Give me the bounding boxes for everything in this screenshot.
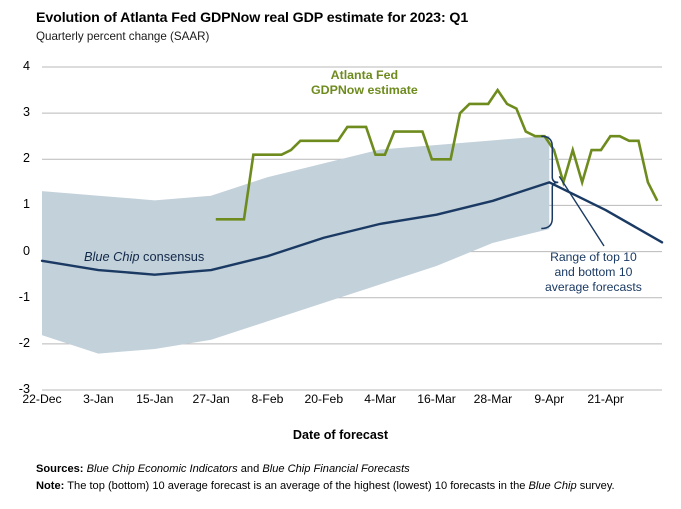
x-axis-title: Date of forecast	[0, 428, 681, 442]
footnote-sources: Sources: Blue Chip Economic Indicators a…	[36, 461, 615, 478]
y-tick-label: 0	[4, 244, 30, 258]
range-annotation-line3: average forecasts	[545, 280, 642, 294]
y-tick-label: 1	[4, 197, 30, 211]
forecast-range-band	[42, 136, 549, 353]
footnote-note-label: Note:	[36, 480, 64, 492]
footnote-sources-label: Sources:	[36, 463, 83, 475]
footnotes: Sources: Blue Chip Economic Indicators a…	[36, 461, 615, 494]
gdpnow-annotation-line1: Atlanta Fed	[331, 68, 398, 82]
range-annotation: Range of top 10 and bottom 10 average fo…	[545, 250, 642, 295]
footnote-note-text-a: The top (bottom) 10 average forecast is …	[67, 480, 528, 492]
x-tick-label: 21-Apr	[571, 392, 641, 406]
range-annotation-line1: Range of top 10	[550, 250, 637, 264]
bluechip-annotation: Blue Chip consensus	[84, 249, 204, 264]
gdpnow-annotation: Atlanta Fed GDPNow estimate	[311, 68, 418, 98]
bluechip-annotation-rest: consensus	[140, 249, 205, 264]
footnote-sources-italic-1: Blue Chip Economic Indicators	[87, 463, 238, 475]
footnote-note-italic: Blue Chip	[529, 480, 577, 492]
footnote-sources-italic-2: Blue Chip Financial Forecasts	[262, 463, 409, 475]
range-leader-line	[559, 176, 604, 246]
range-annotation-line2: and bottom 10	[554, 265, 632, 279]
y-tick-label: 3	[4, 105, 30, 119]
y-tick-label: 2	[4, 151, 30, 165]
bluechip-annotation-italic: Blue Chip	[84, 249, 140, 264]
gdpnow-chart: Evolution of Atlanta Fed GDPNow real GDP…	[0, 0, 681, 509]
y-tick-label: -2	[4, 336, 30, 350]
y-tick-label: -1	[4, 290, 30, 304]
y-tick-label: 4	[4, 59, 30, 73]
footnote-note: Note: The top (bottom) 10 average foreca…	[36, 478, 615, 495]
gdpnow-annotation-line2: GDPNow estimate	[311, 83, 418, 97]
footnote-sources-and: and	[238, 463, 263, 475]
footnote-note-text-b: survey.	[577, 480, 615, 492]
